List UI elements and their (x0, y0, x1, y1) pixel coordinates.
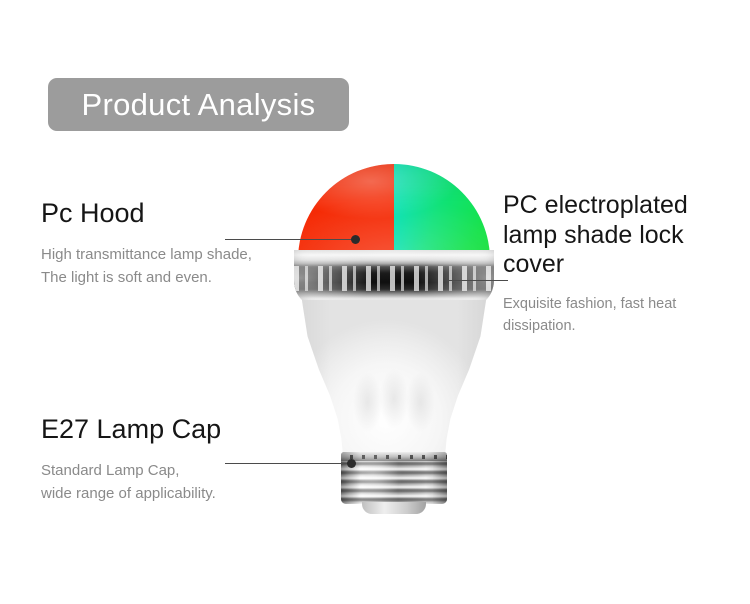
callout-pc-hood: Pc Hood High transmittance lamp shade, T… (41, 198, 341, 289)
product-analysis-infographic: Product Analysis Pc Hood High transmitta… (0, 0, 750, 604)
callout-lock-cover-heading: PC electroplated lamp shade lock cover (503, 191, 743, 280)
page-title: Product Analysis (82, 89, 316, 120)
leader-line-lock-cover (447, 280, 508, 281)
screw-base-collar (341, 452, 447, 461)
screw-thread-pattern (341, 459, 447, 504)
page-title-banner: Product Analysis (48, 78, 349, 131)
screw-base-shading (341, 452, 447, 504)
callout-pc-hood-body: High transmittance lamp shade, The light… (41, 244, 341, 290)
callout-e27-lamp-cap: E27 Lamp Cap Standard Lamp Cap, wide ran… (41, 414, 341, 505)
leader-dot-pc-hood (351, 235, 360, 244)
callout-pc-hood-heading: Pc Hood (41, 198, 341, 230)
leader-dot-e27-lamp-cap (347, 459, 356, 468)
screw-base-tip (362, 502, 426, 514)
screw-base-collar-dots (341, 455, 447, 459)
callout-lock-cover-body: Exquisite fashion, fast heat dissipation… (503, 293, 743, 337)
callout-e27-lamp-cap-body: Standard Lamp Cap, wide range of applica… (41, 460, 341, 506)
e27-screw-base-icon (341, 452, 447, 504)
callout-lock-cover: PC electroplated lamp shade lock cover E… (503, 191, 743, 337)
callout-e27-lamp-cap-heading: E27 Lamp Cap (41, 414, 341, 446)
